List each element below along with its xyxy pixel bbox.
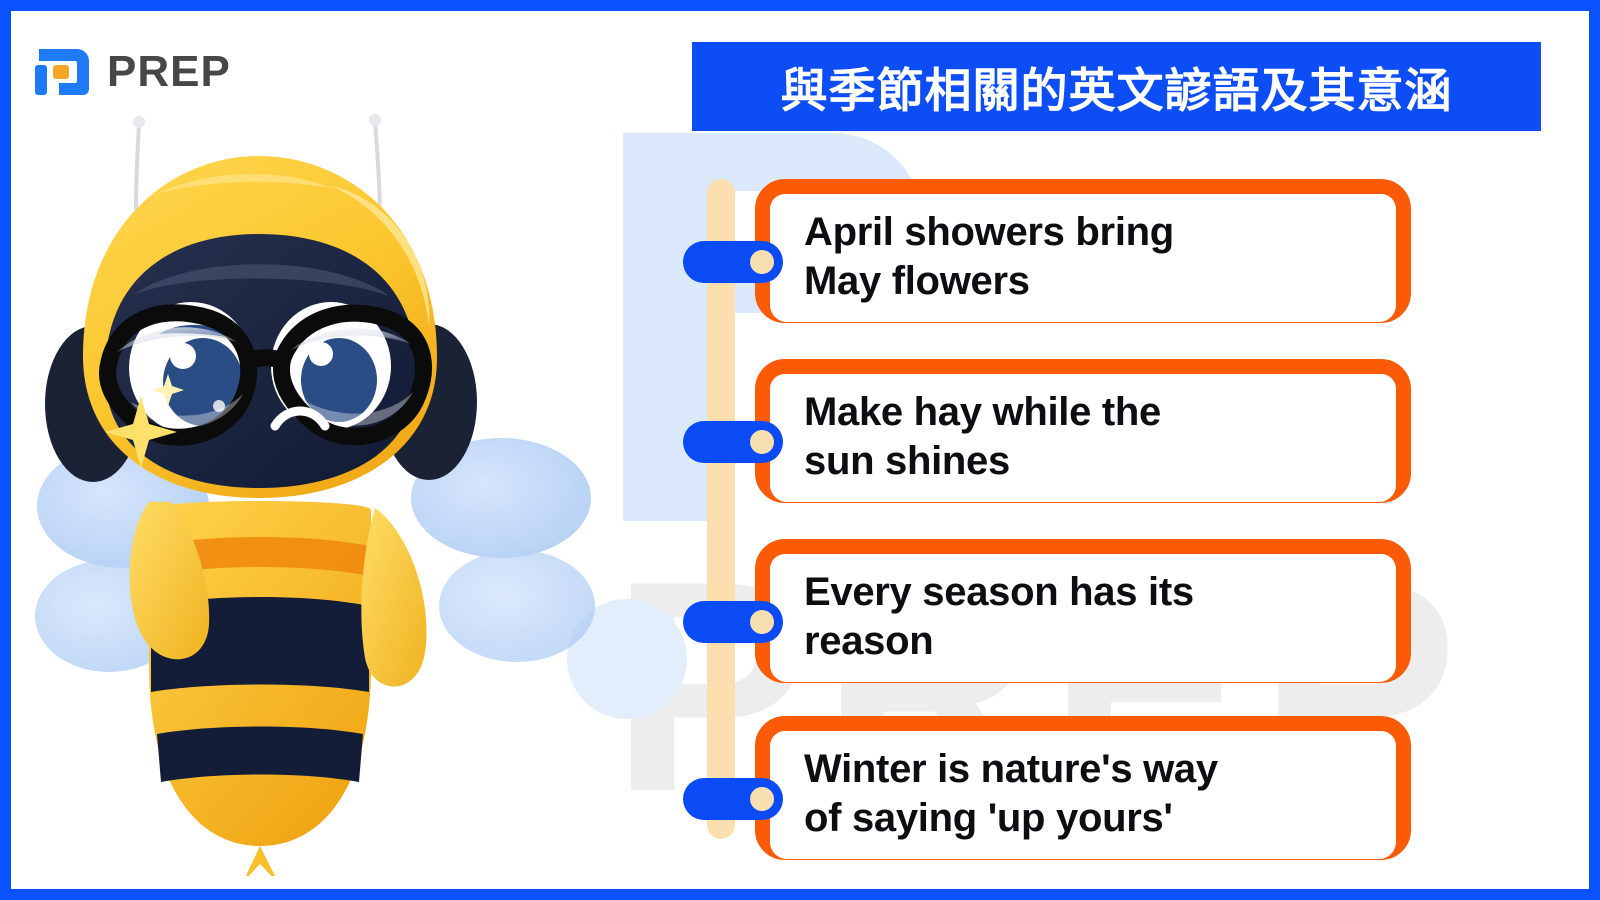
page-title: 與季節相關的英文諺語及其意涵 bbox=[781, 52, 1453, 121]
timeline-node-dot bbox=[750, 430, 774, 454]
proverb-line-2: of saying 'up yours' bbox=[804, 794, 1390, 843]
prep-logo-wordmark: PREP bbox=[107, 50, 231, 94]
proverb-card-inner: April showers bring May flowers bbox=[770, 194, 1396, 322]
proverb-line-1: Every season has its bbox=[804, 568, 1390, 617]
timeline-connector bbox=[683, 241, 783, 283]
bee-mascot-illustration bbox=[31, 106, 631, 876]
proverb-card-inner: Winter is nature's way of saying 'up you… bbox=[770, 731, 1396, 859]
proverb-line-2: May flowers bbox=[804, 257, 1390, 306]
proverb-card[interactable]: Every season has its reason bbox=[755, 539, 1411, 683]
proverb-line-2: sun shines bbox=[804, 437, 1390, 486]
proverb-line-1: Make hay while the bbox=[804, 388, 1390, 437]
proverb-line-1: Winter is nature's way bbox=[804, 745, 1390, 794]
proverb-card[interactable]: April showers bring May flowers bbox=[755, 179, 1411, 323]
proverb-line-2: reason bbox=[804, 617, 1390, 666]
proverb-card[interactable]: Winter is nature's way of saying 'up you… bbox=[755, 716, 1411, 860]
timeline-connector bbox=[683, 601, 783, 643]
prep-p-logo-icon bbox=[33, 41, 95, 103]
proverb-card-inner: Make hay while the sun shines bbox=[770, 374, 1396, 502]
timeline-node-dot bbox=[750, 787, 774, 811]
proverb-card[interactable]: Make hay while the sun shines bbox=[755, 359, 1411, 503]
proverb-card-inner: Every season has its reason bbox=[770, 554, 1396, 682]
timeline-node-dot bbox=[750, 610, 774, 634]
timeline-connector bbox=[683, 778, 783, 820]
timeline-connector bbox=[683, 421, 783, 463]
infographic-canvas: PREP PREP bbox=[11, 11, 1589, 889]
timeline-node-dot bbox=[750, 250, 774, 274]
proverb-line-1: April showers bring bbox=[804, 208, 1390, 257]
title-banner: 與季節相關的英文諺語及其意涵 bbox=[692, 42, 1541, 131]
prep-logo[interactable]: PREP bbox=[33, 41, 231, 103]
